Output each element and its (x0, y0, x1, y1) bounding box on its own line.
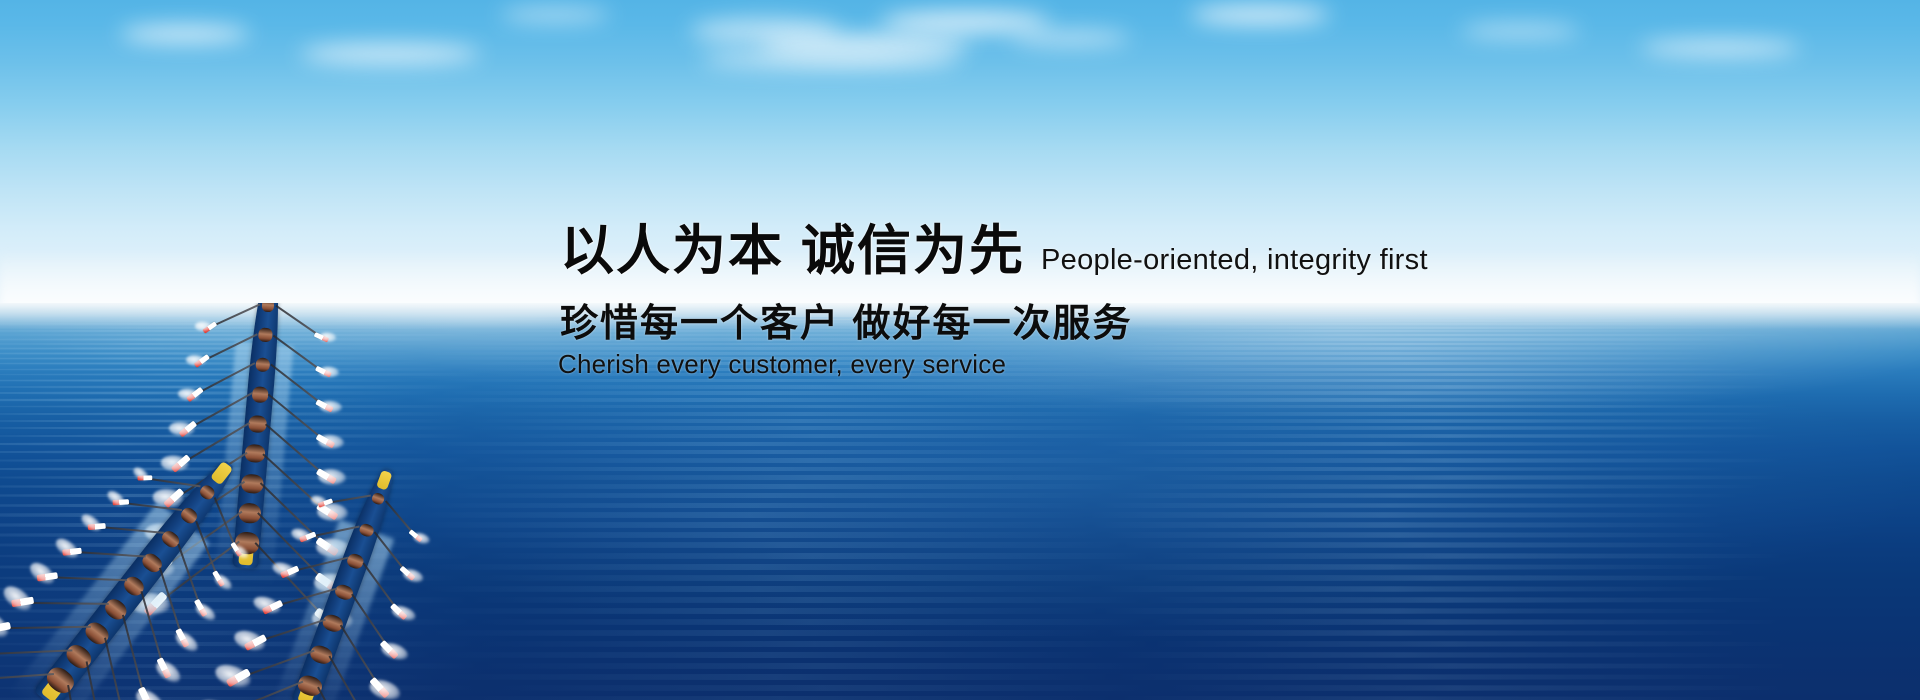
headline-row: 以人为本 诚信为先 People-oriented, integrity fir… (560, 224, 1428, 278)
subline-english: Cherish every customer, every service (558, 351, 1006, 377)
headline-chinese: 以人为本 诚信为先 (560, 224, 1025, 278)
headline-english: People-oriented, integrity first (1041, 246, 1428, 278)
slogan-overlay: 以人为本 诚信为先 People-oriented, integrity fir… (0, 0, 1920, 700)
subline-chinese: 珍惜每一个客户 做好每一次服务 (560, 305, 1133, 343)
rowing-banner: 以人为本 诚信为先 People-oriented, integrity fir… (0, 0, 1920, 700)
